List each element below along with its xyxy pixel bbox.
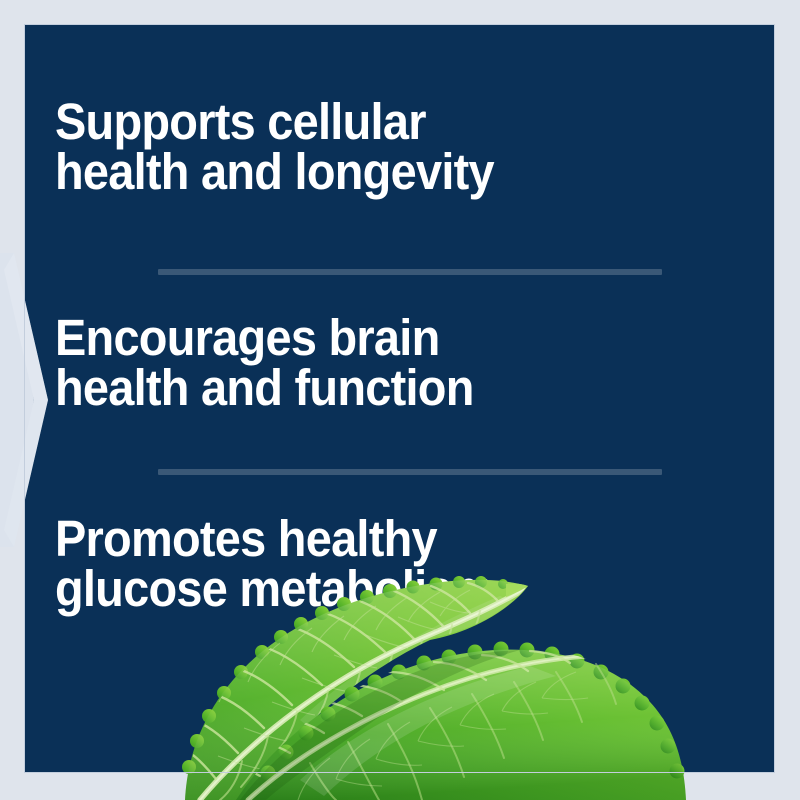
- benefit-divider: [158, 269, 662, 275]
- benefit-line-2: glucose metabolism: [55, 564, 744, 614]
- benefit-line-2: health and longevity: [55, 147, 744, 197]
- promo-panel: Supports cellular health and longevity E…: [0, 0, 800, 800]
- benefit-line-2: health and function: [55, 363, 744, 413]
- benefit-line-1: Promotes healthy: [55, 514, 744, 564]
- benefit-item-glucose-metabolism: Promotes healthy glucose metabolism: [55, 514, 744, 614]
- benefit-item-brain-health: Encourages brain health and function: [55, 313, 744, 413]
- benefit-item-cellular-health: Supports cellular health and longevity: [55, 97, 744, 197]
- benefit-line-1: Encourages brain: [55, 313, 744, 363]
- benefit-line-1: Supports cellular: [55, 97, 744, 147]
- benefit-divider: [158, 469, 662, 475]
- benefits-card: Supports cellular health and longevity E…: [25, 25, 774, 772]
